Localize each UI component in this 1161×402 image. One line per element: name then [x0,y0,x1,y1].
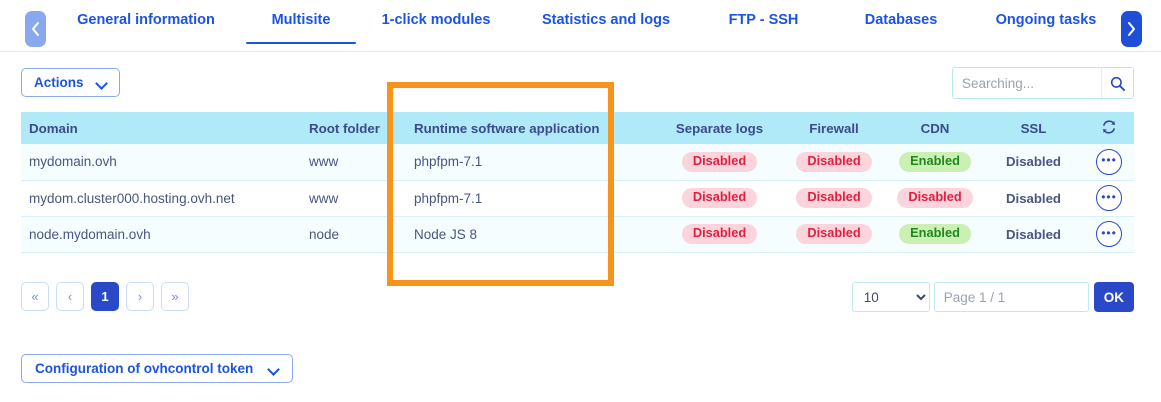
main-tab-bar: General information Multisite 1-click mo… [0,0,1161,52]
column-header-separate-logs[interactable]: Separate logs [658,112,781,144]
tab-label: Multisite [272,12,331,28]
ovhcontrol-token-config-label: Configuration of ovhcontrol token [35,361,253,376]
status-badge: Disabled [682,188,757,208]
table-header-row: Domain Root folder Runtime software appl… [21,112,1134,144]
column-header-runtime-software-application[interactable]: Runtime software application [406,112,658,144]
cell-ssl: Disabled [983,216,1084,252]
table-body: mydomain.ovh www phpfpm-7.1 Disabled Dis… [21,144,1134,252]
tab-label: Statistics and logs [542,12,670,28]
tab-label: Databases [865,12,938,28]
cell-actions: ••• [1084,144,1134,180]
table-row[interactable]: node.mydomain.ovh node Node JS 8 Disable… [21,216,1134,252]
tab-label: FTP - SSH [729,12,799,28]
refresh-icon[interactable] [1101,119,1117,135]
tab-1-click-modules[interactable]: 1-click modules [356,0,516,52]
tab-ongoing-tasks[interactable]: Ongoing tasks [971,0,1121,52]
cell-firewall: Disabled [781,180,887,216]
ssl-status-text: Disabled [1006,191,1061,206]
pagination-first-button[interactable]: « [21,282,49,311]
chevron-right-icon [1127,22,1136,36]
tabs-scroll-left-button[interactable] [25,11,46,47]
tab-label: General information [77,12,215,28]
cell-actions: ••• [1084,180,1134,216]
cell-ssl: Disabled [983,144,1084,180]
page-number-input[interactable] [934,282,1089,312]
actions-dropdown-button[interactable]: Actions [21,68,120,97]
cell-runtime: phpfpm-7.1 [406,144,658,180]
cell-cdn: Enabled [887,144,983,180]
tab-statistics-and-logs[interactable]: Statistics and logs [516,0,696,52]
ssl-status-text: Disabled [1006,227,1061,242]
column-header-ssl[interactable]: SSL [983,112,1084,144]
column-header-domain[interactable]: Domain [21,112,301,144]
search-submit-button[interactable] [1101,68,1133,98]
row-actions-button[interactable]: ••• [1096,149,1122,175]
status-badge: Enabled [899,224,971,244]
cell-separate-logs: Disabled [658,216,781,252]
tab-databases[interactable]: Databases [831,0,971,52]
column-header-firewall[interactable]: Firewall [781,112,887,144]
chevron-down-icon [97,78,107,88]
pagination-controls: 10 OK [852,282,1134,312]
multisite-table: Domain Root folder Runtime software appl… [21,112,1134,253]
column-header-root-folder[interactable]: Root folder [301,112,406,144]
cell-ssl: Disabled [983,180,1084,216]
cell-root-folder: www [301,144,406,180]
status-badge: Enabled [899,152,971,172]
status-badge: Disabled [682,224,757,244]
cell-root-folder: node [301,216,406,252]
cell-runtime: Node JS 8 [406,216,658,252]
cell-firewall: Disabled [781,144,887,180]
pagination-next-button[interactable]: › [126,282,154,311]
column-header-cdn[interactable]: CDN [887,112,983,144]
pagination: « ‹ 1 › » [21,282,189,311]
table-toolbar: Actions [0,52,1161,106]
chevron-left-icon [31,22,40,36]
tab-label: Ongoing tasks [996,12,1097,28]
cell-separate-logs: Disabled [658,144,781,180]
ellipsis-icon: ••• [1101,229,1117,237]
cell-root-folder: www [301,180,406,216]
pagination-ok-button[interactable]: OK [1094,282,1134,312]
cell-cdn: Disabled [887,180,983,216]
table-row[interactable]: mydomain.ovh www phpfpm-7.1 Disabled Dis… [21,144,1134,180]
column-header-actions [1084,112,1134,144]
tab-general-information[interactable]: General information [46,0,246,52]
status-badge: Disabled [796,152,871,172]
status-badge: Disabled [897,188,972,208]
tab-label: 1-click modules [382,12,491,28]
ellipsis-icon: ••• [1101,193,1117,201]
tabs-scroll-right-button[interactable] [1121,11,1142,47]
search-input[interactable] [953,68,1101,98]
actions-label: Actions [34,75,84,90]
cell-actions: ••• [1084,216,1134,252]
search-icon [1110,76,1125,91]
ssl-status-text: Disabled [1006,154,1061,169]
row-actions-button[interactable]: ••• [1096,221,1122,247]
row-actions-button[interactable]: ••• [1096,185,1122,211]
table-head: Domain Root folder Runtime software appl… [21,112,1134,144]
pagination-page-1-button[interactable]: 1 [91,282,119,311]
ellipsis-icon: ••• [1101,156,1117,164]
cell-cdn: Enabled [887,216,983,252]
search-box [952,67,1134,99]
page-root: General information Multisite 1-click mo… [0,0,1161,402]
cell-separate-logs: Disabled [658,180,781,216]
tab-ftp-ssh[interactable]: FTP - SSH [696,0,831,52]
rows-per-page-select[interactable]: 10 [852,282,930,312]
status-badge: Disabled [796,188,871,208]
cell-firewall: Disabled [781,216,887,252]
tab-list: General information Multisite 1-click mo… [46,0,1121,52]
status-badge: Disabled [796,224,871,244]
cell-runtime: phpfpm-7.1 [406,180,658,216]
cell-domain: node.mydomain.ovh [21,216,301,252]
status-badge: Disabled [682,152,757,172]
ovhcontrol-token-config-button[interactable]: Configuration of ovhcontrol token [21,354,293,383]
cell-domain: mydom.cluster000.hosting.ovh.net [21,180,301,216]
pagination-last-button[interactable]: » [161,282,189,311]
cell-domain: mydomain.ovh [21,144,301,180]
chevron-down-icon [269,364,279,374]
table-row[interactable]: mydom.cluster000.hosting.ovh.net www php… [21,180,1134,216]
tab-multisite[interactable]: Multisite [246,0,356,52]
pagination-prev-button[interactable]: ‹ [56,282,84,311]
